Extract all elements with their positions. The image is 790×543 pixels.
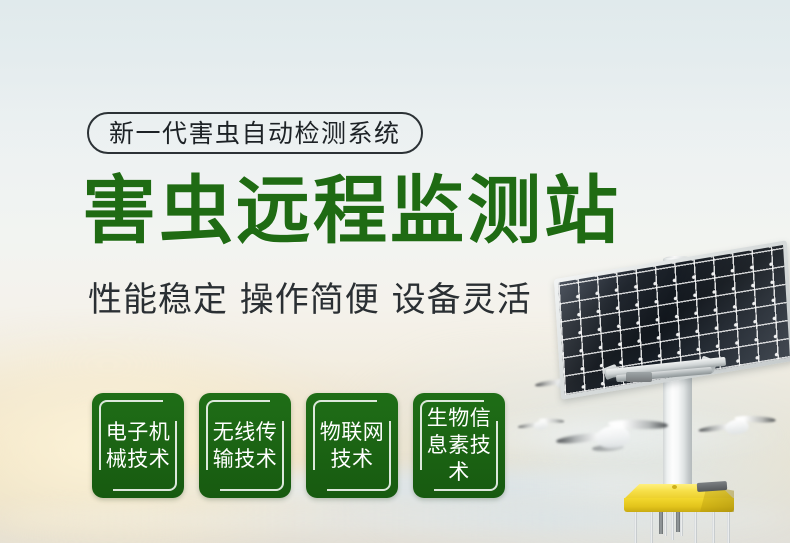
tagline-badge-label: 新一代害虫自动检测系统 [109, 121, 401, 146]
page-subtitle: 性能稳定 操作简便 设备灵活 [88, 283, 532, 317]
feature-tag-label: 生物信息素技术 [424, 405, 494, 486]
feature-tag-wireless-transmission[interactable]: 无线传输技术 [199, 393, 291, 498]
feature-tag-list: 电子机械技术 无线传输技术 物联网技术 生物信息素技术 [92, 393, 505, 498]
feature-tag-label: 电子机械技术 [103, 419, 173, 473]
feature-tag-iot[interactable]: 物联网技术 [306, 393, 398, 498]
feature-tag-pheromone[interactable]: 生物信息素技术 [413, 393, 505, 498]
tagline-badge: 新一代害虫自动检测系统 [87, 112, 423, 154]
feature-tag-electromechanical[interactable]: 电子机械技术 [92, 393, 184, 498]
page-title: 害虫远程监测站 [82, 174, 621, 248]
feature-tag-label: 物联网技术 [317, 419, 387, 473]
promo-banner: 新一代害虫自动检测系统 害虫远程监测站 性能稳定 操作简便 设备灵活 电子机械技… [0, 0, 790, 543]
feature-tag-label: 无线传输技术 [210, 419, 280, 473]
banner-content: 新一代害虫自动检测系统 害虫远程监测站 性能稳定 操作简便 设备灵活 电子机械技… [0, 0, 790, 543]
